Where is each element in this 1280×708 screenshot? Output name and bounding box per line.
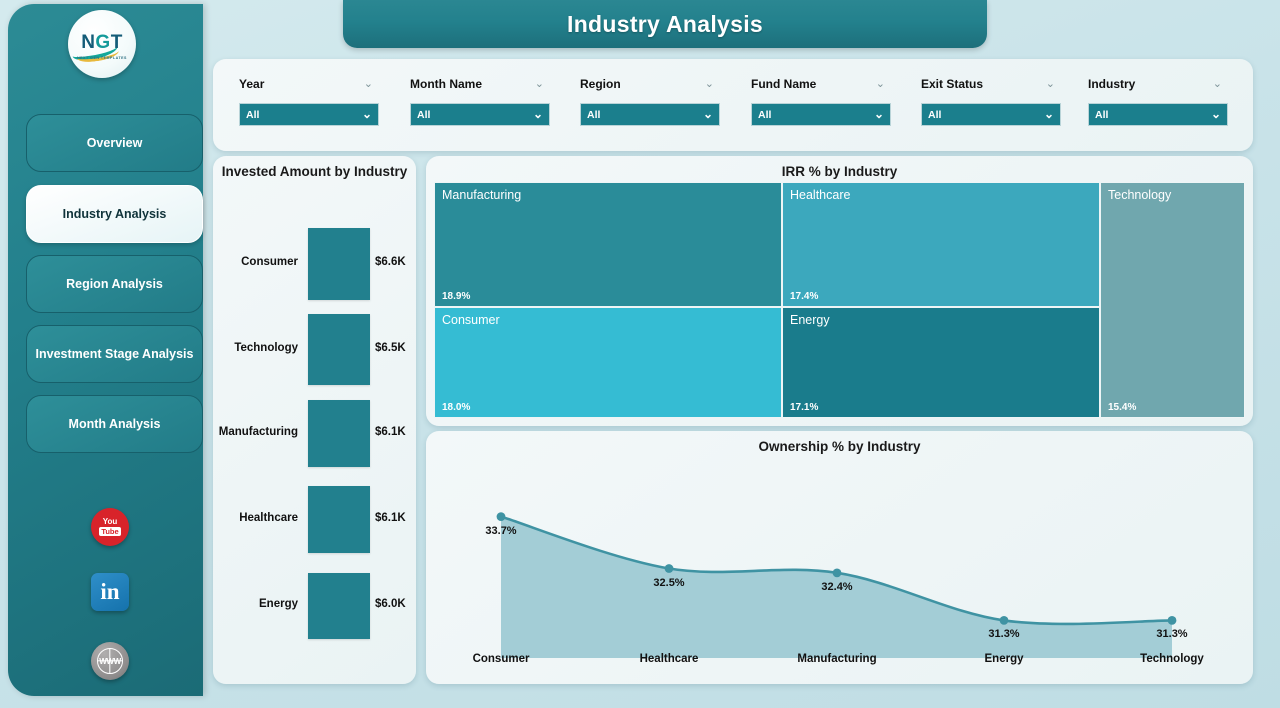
chevron-down-icon: ⌄ <box>874 107 884 121</box>
filter-month-name-value: All <box>417 109 430 121</box>
treemap-tile[interactable]: Manufacturing18.9% <box>434 182 782 307</box>
ownership-chart-title: Ownership % by Industry <box>426 439 1253 454</box>
chevron-down-icon: ⌄ <box>1211 107 1221 121</box>
x-axis-label: Healthcare <box>640 653 699 665</box>
treemap-tile[interactable]: Consumer18.0% <box>434 307 782 418</box>
bar-value-label: $6.1K <box>375 512 406 524</box>
filter-exit-status-select[interactable]: All ⌄ <box>921 103 1061 126</box>
filter-industry[interactable]: Industry ⌄ All ⌄ <box>1088 75 1228 126</box>
bar-value-label: $6.5K <box>375 342 406 354</box>
bar-category-label: Consumer <box>241 256 298 268</box>
filter-month-name-label: Month Name <box>410 77 482 91</box>
treemap-tile-label: Energy <box>790 313 830 327</box>
treemap-tile-label: Technology <box>1108 188 1171 202</box>
filter-year[interactable]: Year ⌄ All ⌄ <box>239 75 379 126</box>
data-point-label: 31.3% <box>988 628 1019 640</box>
bar-category-label: Manufacturing <box>219 426 298 438</box>
filter-fund-name-label: Fund Name <box>751 77 816 91</box>
invested-amount-chart-panel: Invested Amount by Industry Consumer$6.6… <box>213 156 416 684</box>
logo-text: NGT <box>81 33 123 52</box>
filter-month-name[interactable]: Month Name ⌄ All ⌄ <box>410 75 550 126</box>
irr-treemap-title: IRR % by Industry <box>426 164 1253 179</box>
data-point-marker[interactable] <box>1000 616 1009 625</box>
x-axis-label: Manufacturing <box>797 653 876 665</box>
treemap-tile-value: 17.4% <box>790 291 818 302</box>
linkedin-icon[interactable]: in <box>91 573 129 611</box>
sidebar-item-label: Investment Stage Analysis <box>36 347 194 361</box>
treemap-tile-label: Manufacturing <box>442 188 521 202</box>
treemap-tile[interactable]: Technology15.4% <box>1100 182 1245 418</box>
data-point-label: 32.5% <box>653 577 684 589</box>
globe-shape: WWW <box>97 648 123 674</box>
sidebar-item-investment-stage-analysis[interactable]: Investment Stage Analysis <box>26 325 203 383</box>
bar-value-label: $6.0K <box>375 598 406 610</box>
sidebar-item-label: Industry Analysis <box>63 207 167 221</box>
website-icon-label: WWW <box>99 657 120 666</box>
treemap-tile-value: 18.0% <box>442 402 470 413</box>
filter-industry-label: Industry <box>1088 77 1135 91</box>
filter-bar: Year ⌄ All ⌄ Month Name ⌄ All ⌄ Region ⌄… <box>213 59 1253 151</box>
chevron-down-icon[interactable]: ⌄ <box>876 77 885 90</box>
data-point-marker[interactable] <box>665 564 674 573</box>
bar-row[interactable]: Consumer$6.6K <box>213 228 416 300</box>
data-point-marker[interactable] <box>833 568 842 577</box>
filter-exit-status-value: All <box>928 109 941 121</box>
bar-rect[interactable] <box>308 573 370 639</box>
chevron-down-icon[interactable]: ⌄ <box>535 77 544 90</box>
ownership-area-chart: 33.7%Consumer32.5%Healthcare32.4%Manufac… <box>426 455 1253 684</box>
bar-row[interactable]: Manufacturing$6.1K <box>213 400 416 467</box>
bar-value-label: $6.6K <box>375 256 406 268</box>
irr-treemap-panel: IRR % by Industry Manufacturing18.9%Heal… <box>426 156 1253 426</box>
sidebar-item-label: Month Analysis <box>69 417 161 431</box>
treemap-tile[interactable]: Energy17.1% <box>782 307 1100 418</box>
filter-year-label: Year <box>239 77 264 91</box>
filter-fund-name[interactable]: Fund Name ⌄ All ⌄ <box>751 75 891 126</box>
treemap-tile-label: Healthcare <box>790 188 850 202</box>
data-point-label: 31.3% <box>1156 628 1187 640</box>
sidebar-item-label: Overview <box>87 136 143 150</box>
bar-row[interactable]: Healthcare$6.1K <box>213 486 416 553</box>
chevron-down-icon: ⌄ <box>533 107 543 121</box>
dashboard-root: NGT NEXT GEN TEMPLATES Overview Industry… <box>0 0 1280 708</box>
filter-industry-value: All <box>1095 109 1108 121</box>
filter-industry-select[interactable]: All ⌄ <box>1088 103 1228 126</box>
ownership-chart-panel: Ownership % by Industry 33.7%Consumer32.… <box>426 431 1253 684</box>
bar-row[interactable]: Energy$6.0K <box>213 573 416 639</box>
chevron-down-icon[interactable]: ⌄ <box>705 77 714 90</box>
treemap-tile-value: 15.4% <box>1108 402 1136 413</box>
sidebar-item-label: Region Analysis <box>66 277 163 291</box>
website-icon[interactable]: WWW <box>91 642 129 680</box>
chevron-down-icon[interactable]: ⌄ <box>1046 77 1055 90</box>
bar-rect[interactable] <box>308 400 370 467</box>
sidebar-item-overview[interactable]: Overview <box>26 114 203 172</box>
irr-treemap: Manufacturing18.9%Healthcare17.4%Technol… <box>434 182 1245 418</box>
chevron-down-icon[interactable]: ⌄ <box>364 77 373 90</box>
linkedin-icon-label: in <box>100 579 119 605</box>
chevron-down-icon: ⌄ <box>1044 107 1054 121</box>
x-axis-label: Consumer <box>473 653 530 665</box>
data-point-marker[interactable] <box>497 512 506 521</box>
chevron-down-icon[interactable]: ⌄ <box>1213 77 1222 90</box>
treemap-tile-label: Consumer <box>442 313 500 327</box>
invested-amount-chart-title: Invested Amount by Industry <box>213 164 416 179</box>
filter-exit-status[interactable]: Exit Status ⌄ All ⌄ <box>921 75 1061 126</box>
bar-rect[interactable] <box>308 314 370 385</box>
ownership-area-svg <box>426 455 1253 684</box>
bar-category-label: Technology <box>234 342 298 354</box>
page-title: Industry Analysis <box>567 11 763 38</box>
data-point-label: 32.4% <box>821 581 852 593</box>
treemap-tile-value: 18.9% <box>442 291 470 302</box>
chevron-down-icon: ⌄ <box>362 107 372 121</box>
bar-row[interactable]: Technology$6.5K <box>213 314 416 385</box>
filter-fund-name-select[interactable]: All ⌄ <box>751 103 891 126</box>
sidebar-item-industry-analysis[interactable]: Industry Analysis <box>26 185 203 243</box>
chevron-down-icon: ⌄ <box>703 107 713 121</box>
filter-region[interactable]: Region ⌄ All ⌄ <box>580 75 720 126</box>
treemap-tile-value: 17.1% <box>790 402 818 413</box>
bar-rect[interactable] <box>308 486 370 553</box>
sidebar-item-month-analysis[interactable]: Month Analysis <box>26 395 203 453</box>
filter-month-name-select[interactable]: All ⌄ <box>410 103 550 126</box>
x-axis-label: Technology <box>1140 653 1204 665</box>
data-point-label: 33.7% <box>485 525 516 537</box>
bar-category-label: Energy <box>259 598 298 610</box>
filter-exit-status-label: Exit Status <box>921 77 983 91</box>
youtube-icon[interactable]: You Tube <box>91 508 129 546</box>
filter-year-select[interactable]: All ⌄ <box>239 103 379 126</box>
bar-value-label: $6.1K <box>375 426 406 438</box>
page-header: Industry Analysis <box>343 0 987 48</box>
x-axis-label: Energy <box>985 653 1024 665</box>
youtube-icon-bottom: Tube <box>99 527 120 536</box>
bar-rect[interactable] <box>308 228 370 300</box>
filter-region-label: Region <box>580 77 621 91</box>
filter-region-select[interactable]: All ⌄ <box>580 103 720 126</box>
treemap-tile[interactable]: Healthcare17.4% <box>782 182 1100 307</box>
sidebar: NGT NEXT GEN TEMPLATES Overview Industry… <box>8 4 203 696</box>
filter-fund-name-value: All <box>758 109 771 121</box>
sidebar-item-region-analysis[interactable]: Region Analysis <box>26 255 203 313</box>
brand-logo: NGT NEXT GEN TEMPLATES <box>68 10 136 78</box>
youtube-icon-top: You <box>103 518 118 526</box>
logo-tagline: NEXT GEN TEMPLATES <box>77 56 127 60</box>
data-point-marker[interactable] <box>1168 616 1177 625</box>
bar-category-label: Healthcare <box>239 512 298 524</box>
filter-year-value: All <box>246 109 259 121</box>
filter-region-value: All <box>587 109 600 121</box>
